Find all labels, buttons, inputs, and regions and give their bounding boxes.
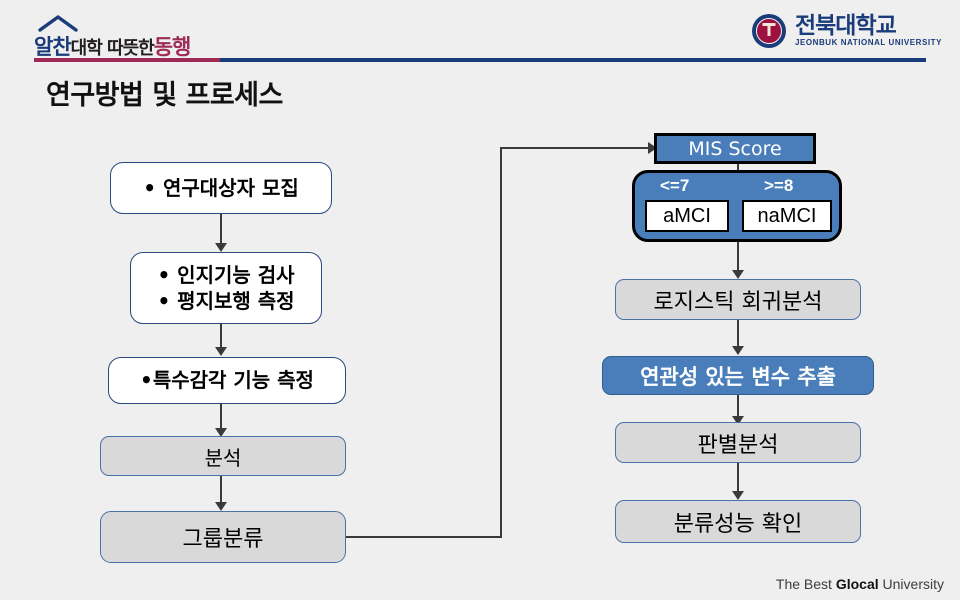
flow-box-logistic-label: 로지스틱 회귀분석 [654, 284, 823, 316]
footer-suffix: University [879, 576, 944, 592]
arrow-logistic-variables [732, 346, 744, 355]
footer-tagline: The Best Glocal University [776, 576, 944, 592]
logo-text-part2: 대학 따뜻한 [71, 38, 154, 59]
flow-box-recruit-line-0: • 연구대상자 모집 [143, 175, 299, 201]
flow-box-mis-score-label: MIS Score [688, 138, 781, 160]
slide: 알찬대학 따뜻한동행 전북대학교 JEONBUK NATIONAL UNIVER… [0, 0, 960, 600]
mci-right-threshold: >=8 [764, 176, 793, 196]
flow-box-grouping: 그룹분류 [100, 511, 346, 563]
connector-grouping-up-seg [500, 148, 502, 538]
flow-box-discrim-label: 판별분석 [698, 427, 779, 459]
flow-box-perf: 분류성능 확인 [615, 500, 861, 543]
university-name-kr: 전북대학교 [795, 14, 942, 38]
footer-prefix: The Best [776, 576, 836, 592]
flow-box-tests-line-1: • 평지보행 측정 [157, 288, 294, 314]
header-divider [34, 58, 926, 62]
flow-box-variables: 연관성 있는 변수 추출 [602, 356, 874, 395]
house-roof-icon [38, 14, 78, 32]
mci-left-threshold: <=7 [660, 176, 689, 196]
flow-box-logistic: 로지스틱 회귀분석 [615, 279, 861, 320]
university-name-en: JEONBUK NATIONAL UNIVERSITY [795, 38, 942, 48]
university-emblem-icon [752, 14, 786, 48]
right-logo: 전북대학교 JEONBUK NATIONAL UNIVERSITY [752, 14, 942, 48]
flow-box-discrim: 판별분석 [615, 422, 861, 463]
mci-left-label: aMCI [645, 200, 729, 232]
flow-box-tests: • 인지기능 검사 • 평지보행 측정 [130, 252, 322, 324]
footer-bold: Glocal [836, 576, 879, 592]
flow-box-variables-label: 연관성 있는 변수 추출 [640, 361, 836, 391]
logo-text-part1: 알찬 [34, 35, 71, 59]
left-logo: 알찬대학 따뜻한동행 [34, 16, 190, 58]
flow-box-sensory: •특수감각 기능 측정 [108, 357, 346, 404]
flow-box-tests-line-0: • 인지기능 검사 [157, 262, 294, 288]
arrow-discrim-perf [732, 491, 744, 500]
flow-box-perf-label: 분류성능 확인 [674, 506, 802, 538]
arrow-tests-sensory [215, 347, 227, 356]
logo-text-part3: 동행 [154, 35, 191, 59]
flow-box-analysis-label: 분석 [205, 442, 242, 471]
flow-box-analysis: 분석 [100, 436, 346, 476]
arrow-group-logistic [732, 270, 744, 279]
slide-title: 연구방법 및 프로세스 [46, 73, 283, 112]
flow-box-sensory-line-0: •특수감각 기능 측정 [140, 367, 314, 393]
flow-box-grouping-label: 그룹분류 [183, 521, 264, 553]
flow-box-mis-score: MIS Score [654, 133, 816, 164]
arrow-analysis-grouping [215, 502, 227, 511]
connector-grouping-to-mis-seg [500, 147, 650, 149]
mci-right-label: naMCI [742, 200, 832, 232]
connector-grouping-right-seg [346, 536, 502, 538]
arrow-recruit-tests [215, 243, 227, 252]
flow-box-recruit: • 연구대상자 모집 [110, 162, 332, 214]
